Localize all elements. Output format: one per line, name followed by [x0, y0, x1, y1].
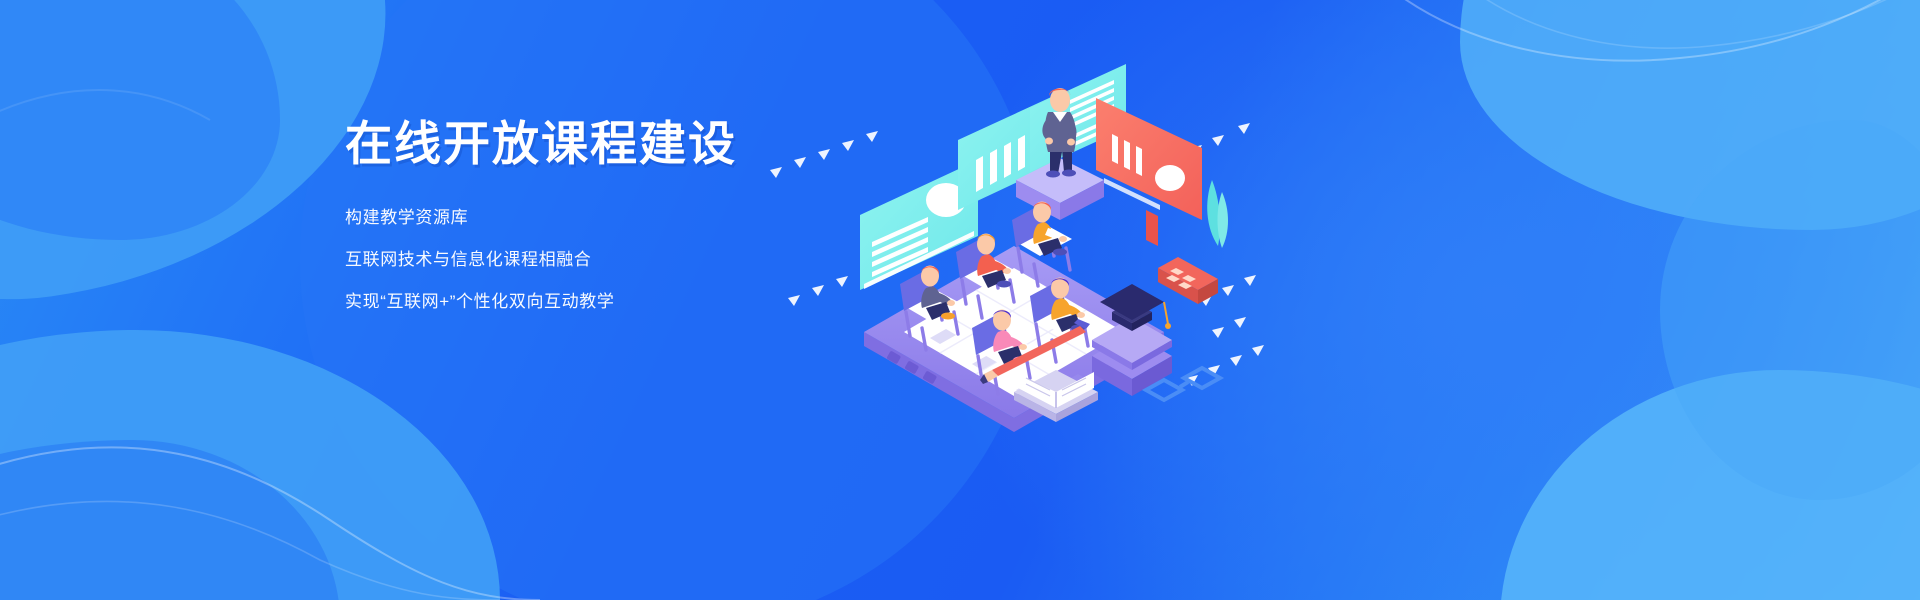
background-blob-top-left-inner — [0, 0, 280, 240]
arrow-trail-upper — [770, 131, 878, 178]
hero-illustration — [760, 40, 1280, 440]
calculator — [1158, 257, 1218, 304]
background-blob-bottom-left — [0, 330, 500, 600]
hero-banner: 在线开放课程建设 构建教学资源库 互联网技术与信息化课程相融合 实现“互联网+”… — [0, 0, 1920, 600]
background-blob-bottom-left-inner — [0, 440, 340, 600]
chart-panel-stand — [1146, 210, 1158, 246]
background-blob-right-middle — [1660, 120, 1920, 500]
graduation-cap — [1092, 284, 1172, 396]
background-blob-bottom-right — [1500, 370, 1920, 600]
chart-panel-coral — [1096, 98, 1202, 220]
plant-decoration — [1207, 180, 1228, 248]
background-blob-top-right — [1460, 0, 1920, 230]
